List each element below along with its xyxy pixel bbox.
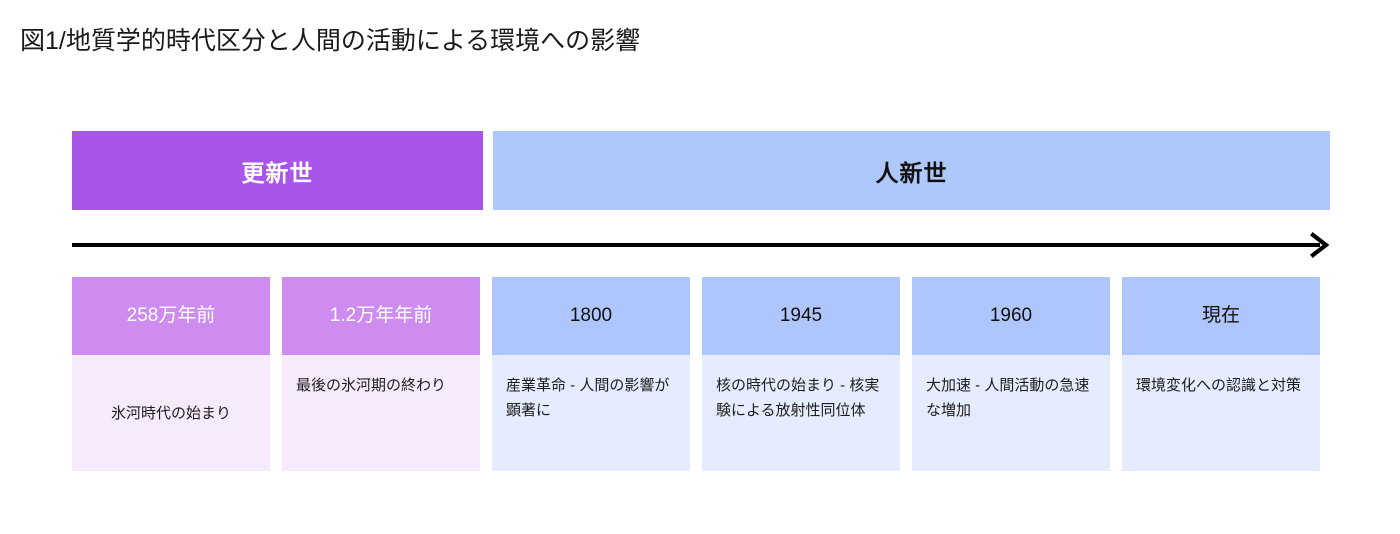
milestone-description-2: 最後の氷河期の終わり (282, 355, 480, 471)
right-arrow-icon (1305, 232, 1331, 258)
milestone-date-5: 1960 (912, 277, 1110, 355)
milestone-date-3: 1800 (492, 277, 690, 355)
milestone-date-1: 258万年前 (72, 277, 270, 355)
milestone-description-1: 氷河時代の始まり (72, 355, 270, 471)
era-bar-pleistocene-label: 更新世 (242, 154, 314, 188)
milestone-card-4: 1945 核の時代の始まり - 核実験による放射性同位体 (702, 277, 900, 471)
era-bar-anthropocene: 人新世 (493, 131, 1330, 210)
milestone-card-3: 1800 産業革命 - 人間の影響が顕著に (492, 277, 690, 471)
milestone-card-6: 現在 環境変化への認識と対策 (1122, 277, 1320, 471)
milestone-card-1: 258万年前 氷河時代の始まり (72, 277, 270, 471)
milestone-list: 258万年前 氷河時代の始まり 1.2万年年前 最後の氷河期の終わり 1800 … (72, 277, 1330, 471)
page-title: 図1/地質学的時代区分と人間の活動による環境への影響 (20, 24, 640, 58)
milestone-description-3: 産業革命 - 人間の影響が顕著に (492, 355, 690, 471)
era-band: 更新世 人新世 (72, 131, 1330, 210)
era-bar-anthropocene-label: 人新世 (876, 154, 948, 188)
milestone-description-5: 大加速 - 人間活動の急速な増加 (912, 355, 1110, 471)
era-bar-pleistocene: 更新世 (72, 131, 483, 210)
milestone-date-6: 現在 (1122, 277, 1320, 355)
milestone-card-2: 1.2万年年前 最後の氷河期の終わり (282, 277, 480, 471)
timeline-arrow (72, 232, 1334, 258)
milestone-description-4: 核の時代の始まり - 核実験による放射性同位体 (702, 355, 900, 471)
timeline-arrow-line (72, 243, 1320, 247)
milestone-card-5: 1960 大加速 - 人間活動の急速な増加 (912, 277, 1110, 471)
figure-container: 図1/地質学的時代区分と人間の活動による環境への影響 更新世 人新世 258万年… (0, 0, 1400, 534)
milestone-description-6: 環境変化への認識と対策 (1122, 355, 1320, 471)
milestone-date-4: 1945 (702, 277, 900, 355)
milestone-date-2: 1.2万年年前 (282, 277, 480, 355)
